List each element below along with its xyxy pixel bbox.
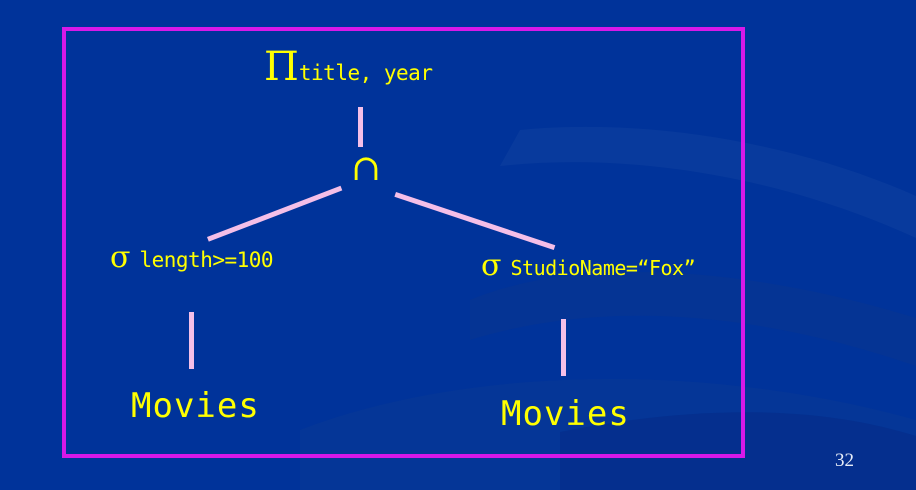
selection-left-subscript: length>=100 — [139, 248, 273, 272]
leaf-relation-left: Movies — [131, 389, 260, 423]
projection-subscript: title, year — [299, 61, 433, 85]
selection-symbol-icon: σ — [481, 248, 501, 283]
node-intersection: ∩ — [351, 151, 381, 187]
node-selection-left: σlength>=100 — [110, 243, 273, 273]
selection-symbol-icon: σ — [110, 240, 130, 275]
slide: Πtitle, year ∩ σlength>=100 σStudioName=… — [0, 0, 916, 490]
node-projection: Πtitle, year — [264, 47, 432, 87]
edge-intersection-to-left-selection — [207, 186, 342, 242]
projection-symbol-icon: Π — [264, 44, 299, 90]
expression-tree-frame: Πtitle, year ∩ σlength>=100 σStudioName=… — [62, 27, 745, 458]
leaf-relation-right: Movies — [501, 397, 630, 431]
node-selection-right: σStudioName=“Fox” — [481, 251, 695, 281]
edge-left-selection-to-relation — [189, 312, 194, 369]
edge-intersection-to-right-selection — [394, 192, 555, 250]
edge-right-selection-to-relation — [561, 319, 566, 376]
edge-projection-to-intersection — [358, 107, 363, 147]
page-number: 32 — [835, 450, 854, 472]
selection-right-subscript: StudioName=“Fox” — [510, 256, 695, 280]
